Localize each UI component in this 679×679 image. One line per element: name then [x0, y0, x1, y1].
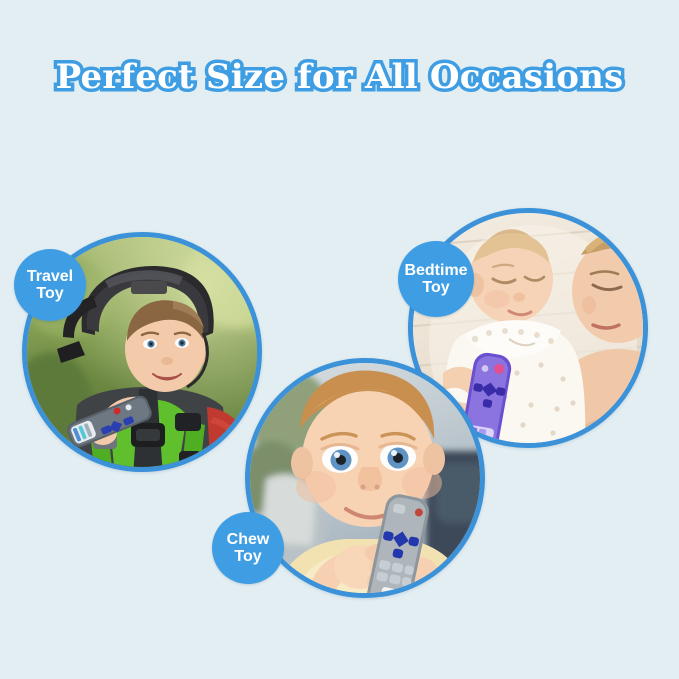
badge-travel-toy-label: Travel Toy — [27, 268, 73, 303]
chew-toy-illustration — [250, 363, 485, 598]
badge-chew-toy: Chew Toy — [212, 512, 284, 584]
badge-bedtime-toy: Bedtime Toy — [398, 241, 474, 317]
badge-chew-toy-label: Chew Toy — [227, 531, 270, 566]
infographic-canvas: Perfect Size for All Occasions — [0, 0, 679, 679]
scene-chew-toy — [250, 363, 480, 593]
page-title-container: Perfect Size for All Occasions — [0, 57, 679, 97]
badge-travel-toy: Travel Toy — [14, 249, 86, 321]
badge-bedtime-toy-label: Bedtime Toy — [404, 262, 467, 297]
page-title: Perfect Size for All Occasions — [56, 57, 624, 97]
